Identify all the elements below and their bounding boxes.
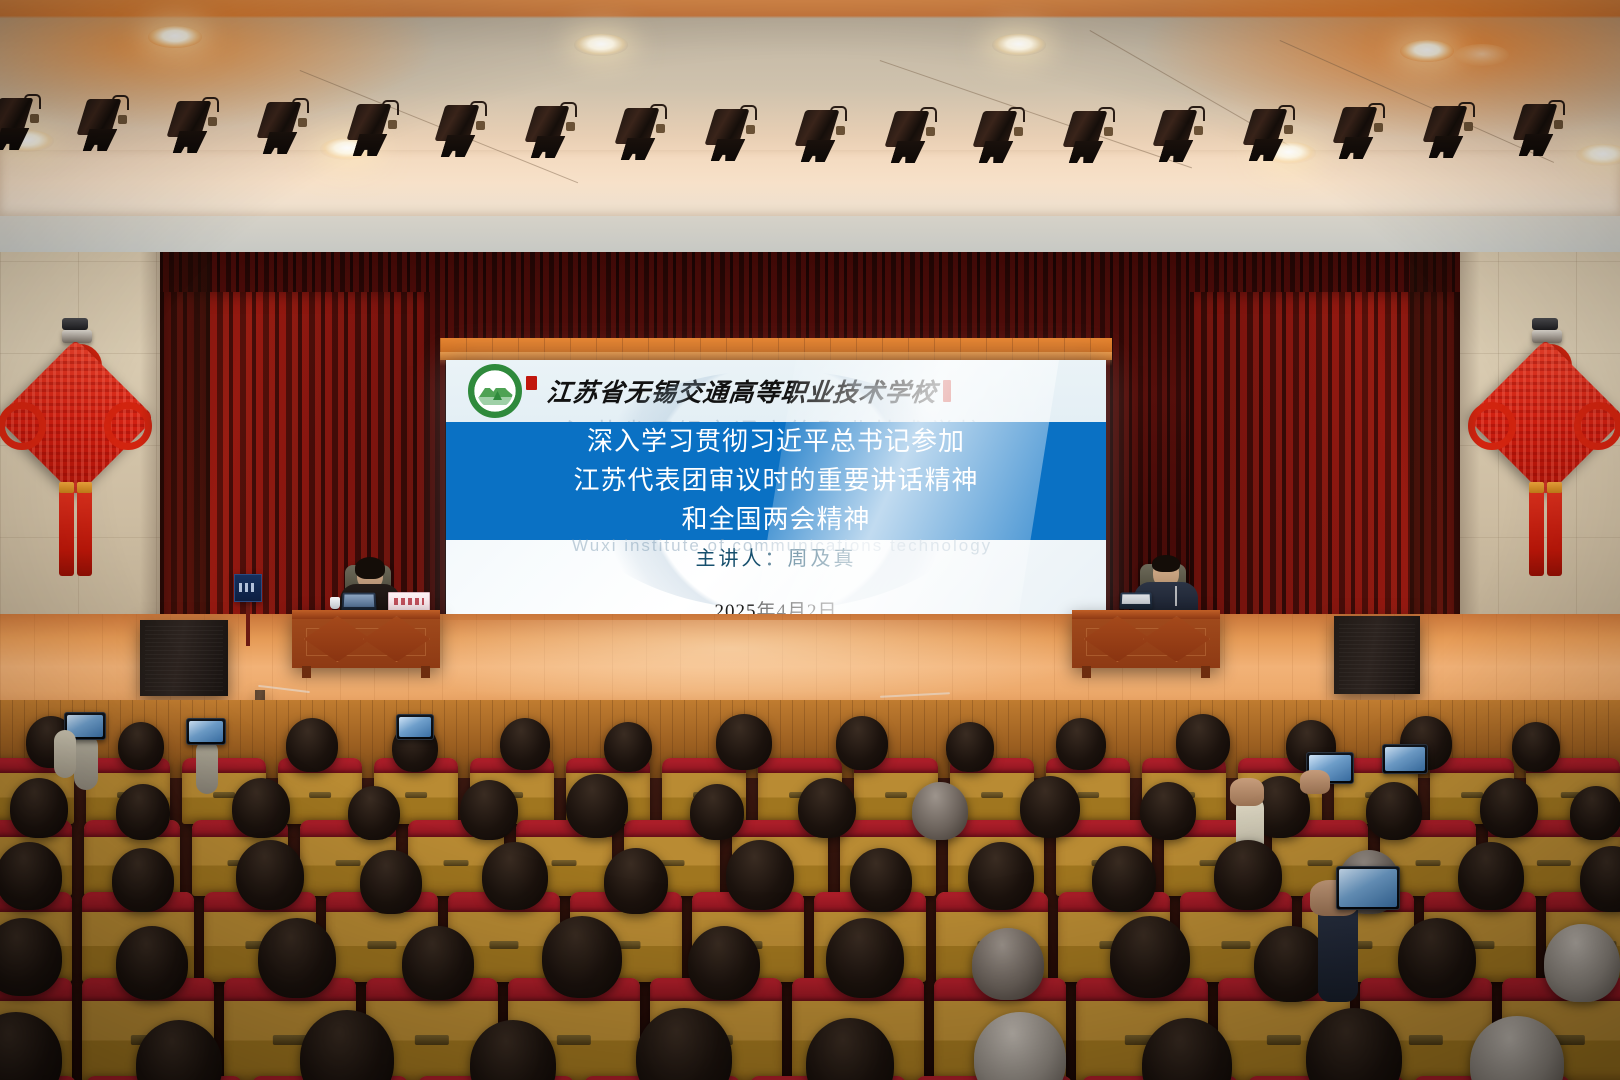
black-stage-spotlight (1248, 103, 1294, 167)
audience-head (566, 774, 628, 838)
audience-head (482, 842, 548, 910)
audience-phone (1336, 866, 1400, 910)
audience-head (946, 722, 994, 772)
audience-head (1512, 722, 1560, 772)
audience-arm (196, 740, 218, 794)
audience-head (1570, 786, 1620, 840)
blue-lectern-sign (234, 574, 262, 602)
black-stage-spotlight (172, 95, 218, 159)
black-stage-spotlight (1158, 104, 1204, 168)
ceiling-downlight (574, 34, 628, 56)
chinese-knot-red-left (0, 330, 150, 590)
chinese-knot-red-right (1470, 330, 1620, 590)
audience-head (726, 840, 794, 910)
black-stage-spotlight (800, 104, 846, 168)
red-seal-side-icon (943, 380, 951, 402)
ceiling-downlight (1455, 44, 1509, 66)
audience-head (232, 778, 290, 838)
audience-head (1092, 846, 1156, 912)
black-stage-spotlight (978, 105, 1024, 169)
black-stage-spotlight (1338, 101, 1384, 165)
audience-head (10, 778, 68, 838)
audience-hand (1230, 778, 1264, 806)
audience-phone (1382, 744, 1428, 774)
audience-head (604, 722, 652, 772)
right-conference-table (1072, 610, 1220, 668)
audience-head (0, 842, 62, 910)
audience-head (402, 926, 474, 1000)
open-folder-right (1119, 593, 1152, 610)
audience-head (360, 850, 422, 914)
audience-head (972, 928, 1044, 1000)
audience-head (112, 848, 174, 912)
black-stage-spotlight (1428, 100, 1474, 164)
audience-head (604, 848, 668, 914)
audience-head (1458, 842, 1524, 910)
audience-head (116, 926, 188, 1000)
audience-head (912, 782, 968, 840)
audience-head (236, 840, 304, 910)
right-floor-speaker-cabinet (1334, 616, 1420, 694)
black-stage-spotlight (1068, 105, 1114, 169)
black-stage-spotlight (890, 105, 936, 169)
screen-title-band: 深入学习贯彻习近平总书记参加 江苏代表团审议时的重要讲话精神 和全国两会精神 (446, 422, 1106, 540)
audience-phone (396, 714, 434, 740)
screen-title-line-2: 江苏代表团审议时的重要讲话精神 (573, 462, 978, 501)
school-name: 江苏省无锡交通高等职业技术学校 (545, 373, 939, 409)
screen-header: 江苏省无锡交通高等职业技术学校 (446, 360, 1106, 422)
black-stage-spotlight (620, 102, 666, 166)
audience-head (258, 918, 336, 998)
audience-arm (54, 730, 76, 778)
black-stage-spotlight (440, 99, 486, 163)
ceiling (0, 0, 1620, 262)
school-crest-icon (468, 364, 522, 418)
black-stage-spotlight (530, 100, 576, 164)
black-stage-spotlight (262, 96, 308, 160)
audience-head (286, 718, 338, 772)
audience-head (1366, 782, 1422, 840)
black-stage-spotlight (82, 93, 128, 157)
audience-head (1176, 714, 1230, 770)
audience-head (968, 842, 1034, 910)
red-seal-icon (526, 376, 537, 390)
audience-head (1480, 778, 1538, 838)
left-conference-table (292, 610, 440, 668)
audience-head (1140, 782, 1196, 840)
microphone-right (1175, 586, 1177, 606)
audience-hand (1300, 770, 1330, 794)
audience-head (348, 786, 400, 840)
audience-head (1544, 924, 1620, 1002)
screen-title-line-1: 深入学习贯彻习近平总书记参加 (587, 423, 965, 462)
audience-area (0, 700, 1620, 1080)
wall-bracket-left (62, 318, 88, 330)
audience-phone (186, 718, 226, 745)
auditorium-photo: 江苏省无锡交通高等职业技术学校 江苏省无锡交通高等职业技术学校 深入学习贯彻习近… (0, 0, 1620, 1080)
audience-head (1254, 926, 1328, 1002)
water-cup-left (330, 597, 340, 609)
audience-head (118, 722, 164, 770)
screen-title-line-3: 和全国两会精神 (681, 501, 870, 540)
black-stage-spotlight (1518, 98, 1564, 162)
ceiling-downlight (1400, 40, 1454, 62)
lectern-post-left (246, 600, 250, 646)
audience-head (460, 780, 518, 840)
screen-speaker-label: 主讲人：周及真 (446, 542, 1106, 571)
audience-head (716, 714, 772, 770)
audience-head (1398, 918, 1476, 998)
audience-head (542, 916, 622, 998)
audience-head (1214, 840, 1282, 910)
audience-head (116, 784, 170, 840)
audience-head (1056, 718, 1106, 770)
audience-head (1110, 916, 1190, 998)
black-stage-spotlight (710, 103, 756, 167)
black-stage-spotlight (352, 98, 398, 162)
audience-head (798, 778, 856, 838)
black-stage-spotlight (0, 92, 40, 156)
audience-head (850, 848, 912, 912)
audience-head (688, 926, 760, 1000)
audience-head (836, 716, 888, 770)
audience-arm (74, 734, 98, 790)
ceiling-downlight (992, 34, 1046, 56)
ceiling-downlight (148, 26, 202, 48)
audience-head (690, 784, 744, 840)
audience-head (1020, 776, 1080, 838)
audience-head (826, 918, 904, 998)
audience-head (500, 718, 550, 770)
presentation-screen[interactable]: 江苏省无锡交通高等职业技术学校 江苏省无锡交通高等职业技术学校 深入学习贯彻习近… (446, 360, 1106, 625)
name-placard-left (388, 592, 430, 611)
wall-bracket-right (1532, 318, 1558, 330)
left-floor-speaker-cabinet (140, 620, 228, 696)
